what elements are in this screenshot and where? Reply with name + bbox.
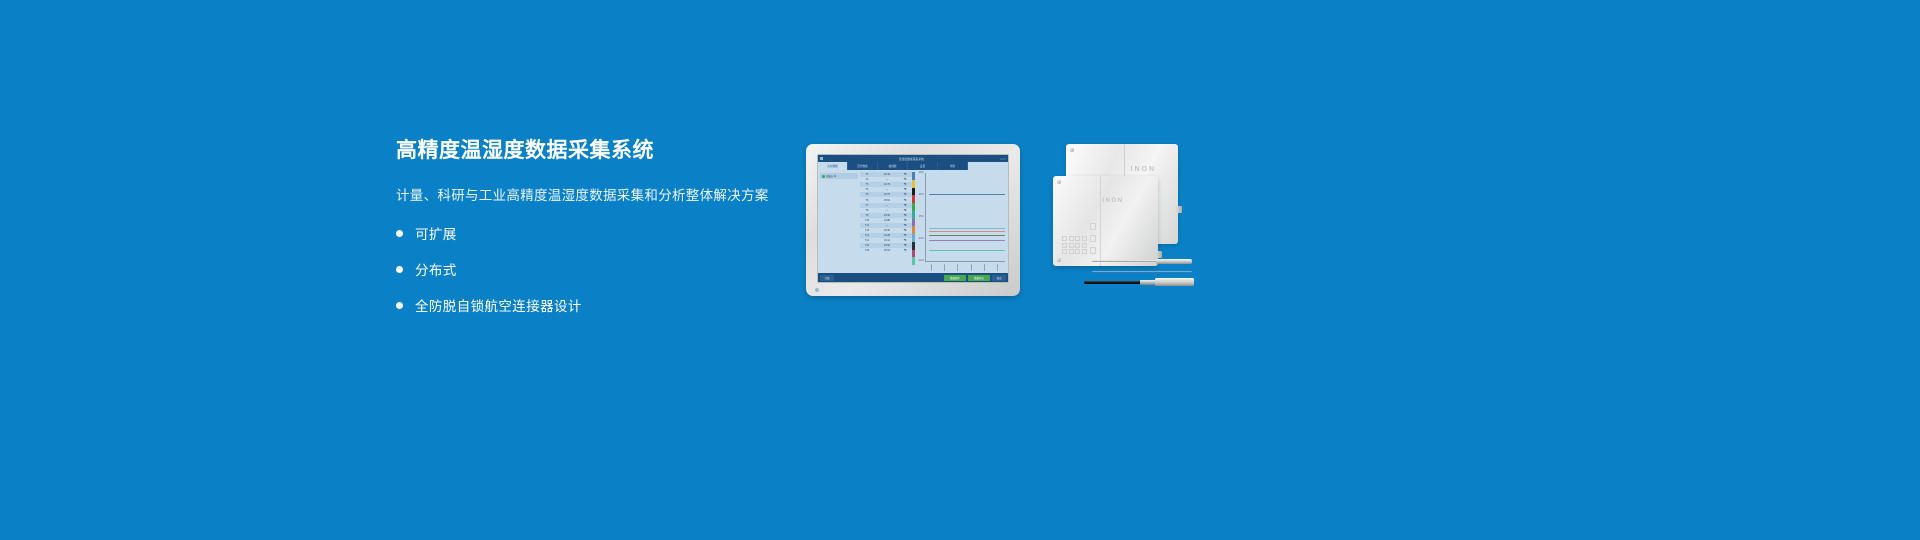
- cell-channel: T16: [860, 249, 874, 252]
- probe-ferrule: [1140, 280, 1156, 285]
- legend-swatch: [912, 188, 915, 196]
- cell-value: 24.79: [874, 183, 900, 186]
- y-tick: 25.5: [916, 194, 924, 196]
- app-footer-toolbar: 开始 数据保存 数据导出 退出: [818, 273, 1008, 282]
- save-data-button[interactable]: 数据保存: [944, 275, 966, 281]
- cell-unit: ℃: [900, 249, 910, 252]
- probe-cable: [1092, 271, 1192, 273]
- cell-unit: ℃: [900, 239, 910, 242]
- series-line-t1: [929, 194, 1005, 195]
- cell-unit: ℃: [900, 224, 910, 227]
- probe-tip: [1156, 259, 1192, 264]
- cell-value: 24.11: [874, 239, 900, 242]
- cell-channel: T11: [860, 224, 874, 227]
- legend-swatch: [912, 211, 915, 219]
- chart-plot-area: [925, 173, 1005, 262]
- cell-value: 24.88: [874, 219, 900, 222]
- legend-swatch: [912, 172, 915, 180]
- port-icon: [1075, 249, 1080, 254]
- device-tree-label: 采集仪 01: [826, 174, 837, 178]
- panel-pc-device: 温湿度数据采集系统 实时数据 历史数据 曲线图 设置 帮助: [806, 144, 1020, 296]
- sensor-port-grid: [1062, 236, 1087, 254]
- cell-value: —: [874, 224, 900, 227]
- cell-channel: T13: [860, 234, 874, 237]
- port-icon: [1082, 249, 1087, 254]
- cell-channel: T14: [860, 239, 874, 242]
- probe-connector: [1155, 278, 1194, 285]
- cell-channel: T9: [860, 214, 874, 217]
- cell-unit: ℃: [900, 234, 910, 237]
- cell-channel: T4: [860, 188, 874, 191]
- tab-curve-chart[interactable]: 曲线图: [878, 162, 908, 170]
- cell-channel: T12: [860, 229, 874, 232]
- list-item: 分布式: [396, 259, 826, 279]
- bullet-dot-icon: [396, 302, 403, 309]
- x-tick: 10:00:00: [931, 262, 933, 271]
- cell-unit: ℃: [900, 188, 910, 191]
- cell-unit: ℃: [900, 193, 910, 196]
- legend-swatch: [912, 257, 915, 265]
- cell-unit: ℃: [900, 219, 910, 222]
- port-icon: [1082, 243, 1087, 248]
- legend-swatch: [912, 234, 915, 242]
- app-titlebar: 温湿度数据采集系统: [818, 155, 1008, 162]
- page-title: 高精度温湿度数据采集系统: [396, 138, 826, 163]
- feature-label: 可扩展: [415, 223, 457, 243]
- cell-channel: T1: [860, 173, 874, 176]
- table-row[interactable]: T16 25.94 ℃: [860, 248, 912, 253]
- io-port-icon: [1090, 223, 1096, 230]
- x-tick: 10:20:00: [957, 262, 959, 271]
- y-tick: 26.0: [916, 172, 924, 174]
- port-icon: [1062, 249, 1067, 254]
- blue-cable-probe: [1092, 270, 1192, 274]
- chart-y-axis: 26.0 25.5 25.0 24.5 24.0: [916, 172, 924, 262]
- cell-value: —: [874, 188, 900, 191]
- port-icon: [1069, 236, 1074, 241]
- cell-value: —: [874, 178, 900, 181]
- tabbar-filler: [968, 162, 1008, 170]
- y-tick: 24.5: [916, 238, 924, 240]
- series-line-t16: [929, 250, 1005, 251]
- probe-shaft: [1092, 260, 1158, 262]
- stainless-probe: [1092, 258, 1192, 264]
- chart-x-axis: 10:00:00 10:10:00 10:20:00 10:30:00 10:4…: [925, 262, 1005, 271]
- feature-label: 全防脱自锁航空连接器设计: [415, 295, 582, 315]
- connector-port: [1156, 251, 1162, 258]
- list-item: 全防脱自锁航空连接器设计: [396, 295, 826, 315]
- cell-unit: ℃: [900, 183, 910, 186]
- black-cable-connector-probe: [1084, 278, 1194, 286]
- brand-logo: INON: [1131, 166, 1157, 173]
- app-title: 温湿度数据采集系统: [823, 157, 1000, 161]
- cell-channel: T8: [860, 209, 874, 212]
- series-line-t12: [929, 240, 1005, 241]
- cell-channel: T2: [860, 178, 874, 181]
- product-banner: 高精度温湿度数据采集系统 计量、科研与工业高精度温湿度数据采集和分析整体解决方案…: [0, 0, 1920, 540]
- cell-channel: T5: [860, 193, 874, 196]
- trend-chart[interactable]: 26.0 25.5 25.0 24.5 24.0: [916, 172, 1006, 271]
- bullet-dot-icon: [396, 230, 403, 237]
- channel-table: T1 25.18 ℃ T2 — ℃ T3 24.79 ℃: [860, 170, 912, 273]
- cell-value: —: [874, 209, 900, 212]
- cell-value: —: [874, 204, 900, 207]
- cell-unit: ℃: [900, 204, 910, 207]
- device-tree-panel: 采集仪 01: [818, 170, 860, 273]
- port-icon: [1069, 243, 1074, 248]
- exit-button[interactable]: 退出: [992, 275, 1006, 281]
- connector-port: [1176, 206, 1182, 213]
- y-tick: 24.0: [916, 260, 924, 262]
- screw-icon: [1057, 258, 1061, 262]
- port-icon: [1082, 236, 1087, 241]
- x-tick: 10:50:00: [997, 262, 999, 271]
- start-button[interactable]: 开始: [820, 275, 834, 281]
- cell-channel: T6: [860, 199, 874, 202]
- legend-swatch: [912, 250, 915, 258]
- cell-value: 24.96: [874, 214, 900, 217]
- io-port-icon: [1090, 247, 1096, 254]
- port-icon: [1062, 236, 1067, 241]
- cell-channel: T7: [860, 204, 874, 207]
- y-tick: 25.0: [916, 216, 924, 218]
- cell-unit: ℃: [900, 178, 910, 181]
- data-logger-front-unit: INON: [1053, 176, 1158, 266]
- copy-block: 高精度温湿度数据采集系统 计量、科研与工业高精度温湿度数据采集和分析整体解决方案…: [396, 138, 826, 315]
- cell-value: 25.94: [874, 249, 900, 252]
- window-controls-icon[interactable]: [1000, 158, 1006, 160]
- port-icon: [1075, 236, 1080, 241]
- screw-icon: [1057, 180, 1061, 184]
- cell-value: 24.73: [874, 193, 900, 196]
- cell-channel: T15: [860, 244, 874, 247]
- legend-swatch: [912, 219, 915, 227]
- legend-swatch: [912, 203, 915, 211]
- io-port-column: [1090, 223, 1096, 254]
- device-tree-node[interactable]: 采集仪 01: [820, 173, 858, 179]
- tab-realtime-data[interactable]: 实时数据: [818, 162, 848, 170]
- cell-unit: ℃: [900, 173, 910, 176]
- series-line-t5: [929, 228, 1005, 229]
- cell-unit: ℃: [900, 244, 910, 247]
- screw-icon: [1070, 148, 1074, 152]
- port-icon: [1069, 249, 1074, 254]
- tab-help[interactable]: 帮助: [938, 162, 968, 170]
- panel-seam: [1100, 176, 1101, 266]
- cell-unit: ℃: [900, 199, 910, 202]
- channel-color-legend: [912, 172, 915, 265]
- cell-value: 24.28: [874, 234, 900, 237]
- cell-value: 25.90: [874, 244, 900, 247]
- brand-logo: INON: [1102, 198, 1123, 204]
- page-subtitle: 计量、科研与工业高精度温湿度数据采集和分析整体解决方案: [396, 184, 826, 204]
- legend-swatch: [912, 226, 915, 234]
- list-item: 可扩展: [396, 223, 826, 243]
- x-tick: 10:40:00: [984, 262, 986, 271]
- legend-swatch: [912, 195, 915, 203]
- tab-history-data[interactable]: 历史数据: [848, 162, 878, 170]
- cell-unit: ℃: [900, 229, 910, 232]
- feature-list: 可扩展 分布式 全防脱自锁航空连接器设计: [396, 223, 826, 315]
- feature-label: 分布式: [415, 259, 457, 279]
- device-status-icon: [822, 175, 825, 178]
- bullet-dot-icon: [396, 266, 403, 273]
- legend-swatch: [912, 180, 915, 188]
- cell-unit: ℃: [900, 214, 910, 217]
- x-tick: 10:10:00: [944, 262, 946, 271]
- export-data-button[interactable]: 数据导出: [968, 275, 990, 281]
- software-screen: 温湿度数据采集系统 实时数据 历史数据 曲线图 设置 帮助: [818, 155, 1008, 282]
- cell-value: 25.61: [874, 199, 900, 202]
- port-icon: [1062, 243, 1067, 248]
- legend-swatch: [912, 242, 915, 250]
- x-tick: 10:30:00: [971, 262, 973, 271]
- cell-channel: T10: [860, 219, 874, 222]
- port-icon: [1075, 243, 1080, 248]
- series-line-t9: [929, 235, 1005, 236]
- cell-value: 25.90: [874, 229, 900, 232]
- app-tabbar: 实时数据 历史数据 曲线图 设置 帮助: [818, 162, 1008, 170]
- screen-bezel: 温湿度数据采集系统 实时数据 历史数据 曲线图 设置 帮助: [817, 154, 1009, 283]
- series-line-t6: [929, 231, 1005, 232]
- tab-settings[interactable]: 设置: [908, 162, 938, 170]
- cell-value: 25.18: [874, 173, 900, 176]
- probe-cable: [1084, 281, 1142, 284]
- io-port-icon: [1090, 235, 1096, 242]
- cell-unit: ℃: [900, 209, 910, 212]
- app-body: 采集仪 01 T1 25.18 ℃ T2 — ℃: [818, 170, 1008, 273]
- cell-channel: T3: [860, 183, 874, 186]
